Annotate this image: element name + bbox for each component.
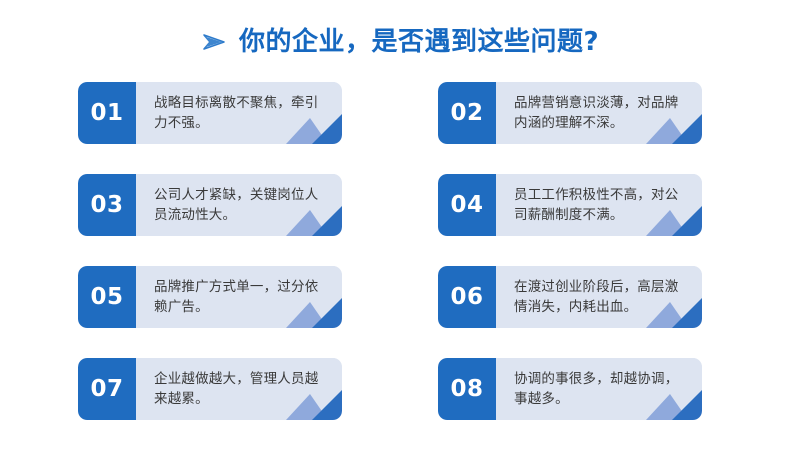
card-number-badge: 04 bbox=[438, 174, 496, 236]
problem-card[interactable]: 04 员工工作积极性不高，对公司薪酬制度不满。 bbox=[438, 174, 702, 236]
problem-card[interactable]: 05 品牌推广方式单一，过分依赖广告。 bbox=[78, 266, 342, 328]
card-body: 员工工作积极性不高，对公司薪酬制度不满。 bbox=[496, 174, 702, 236]
problem-card[interactable]: 01 战略目标离散不聚焦，牵引力不强。 bbox=[78, 82, 342, 144]
card-text: 在渡过创业阶段后，高层激情消失，内耗出血。 bbox=[496, 277, 702, 317]
arrow-right-triangle-icon bbox=[201, 29, 227, 55]
card-body: 品牌营销意识淡薄，对品牌内涵的理解不深。 bbox=[496, 82, 702, 144]
card-text: 协调的事很多，却越协调，事越多。 bbox=[496, 369, 702, 409]
card-number-badge: 02 bbox=[438, 82, 496, 144]
page-title: 你的企业，是否遇到这些问题? bbox=[239, 29, 599, 55]
card-number-badge: 06 bbox=[438, 266, 496, 328]
card-number-badge: 05 bbox=[78, 266, 136, 328]
card-body: 协调的事很多，却越协调，事越多。 bbox=[496, 358, 702, 420]
card-text: 战略目标离散不聚焦，牵引力不强。 bbox=[136, 93, 342, 133]
card-body: 战略目标离散不聚焦，牵引力不强。 bbox=[136, 82, 342, 144]
card-number-badge: 08 bbox=[438, 358, 496, 420]
card-text: 员工工作积极性不高，对公司薪酬制度不满。 bbox=[496, 185, 702, 225]
card-body: 在渡过创业阶段后，高层激情消失，内耗出血。 bbox=[496, 266, 702, 328]
problem-card[interactable]: 02 品牌营销意识淡薄，对品牌内涵的理解不深。 bbox=[438, 82, 702, 144]
card-number-badge: 03 bbox=[78, 174, 136, 236]
card-number-badge: 01 bbox=[78, 82, 136, 144]
problem-card-grid: 01 战略目标离散不聚焦，牵引力不强。 02 品牌营销意识淡薄，对品牌内涵的理解… bbox=[78, 82, 722, 422]
card-text: 公司人才紧缺，关键岗位人员流动性大。 bbox=[136, 185, 342, 225]
card-text: 品牌推广方式单一，过分依赖广告。 bbox=[136, 277, 342, 317]
card-text: 企业越做越大，管理人员越来越累。 bbox=[136, 369, 342, 409]
card-body: 品牌推广方式单一，过分依赖广告。 bbox=[136, 266, 342, 328]
card-text: 品牌营销意识淡薄，对品牌内涵的理解不深。 bbox=[496, 93, 702, 133]
card-body: 公司人才紧缺，关键岗位人员流动性大。 bbox=[136, 174, 342, 236]
problem-card[interactable]: 08 协调的事很多，却越协调，事越多。 bbox=[438, 358, 702, 420]
problem-card[interactable]: 03 公司人才紧缺，关键岗位人员流动性大。 bbox=[78, 174, 342, 236]
page-title-row: 你的企业，是否遇到这些问题? bbox=[0, 20, 800, 64]
problem-card[interactable]: 07 企业越做越大，管理人员越来越累。 bbox=[78, 358, 342, 420]
card-number-badge: 07 bbox=[78, 358, 136, 420]
problem-card[interactable]: 06 在渡过创业阶段后，高层激情消失，内耗出血。 bbox=[438, 266, 702, 328]
card-body: 企业越做越大，管理人员越来越累。 bbox=[136, 358, 342, 420]
